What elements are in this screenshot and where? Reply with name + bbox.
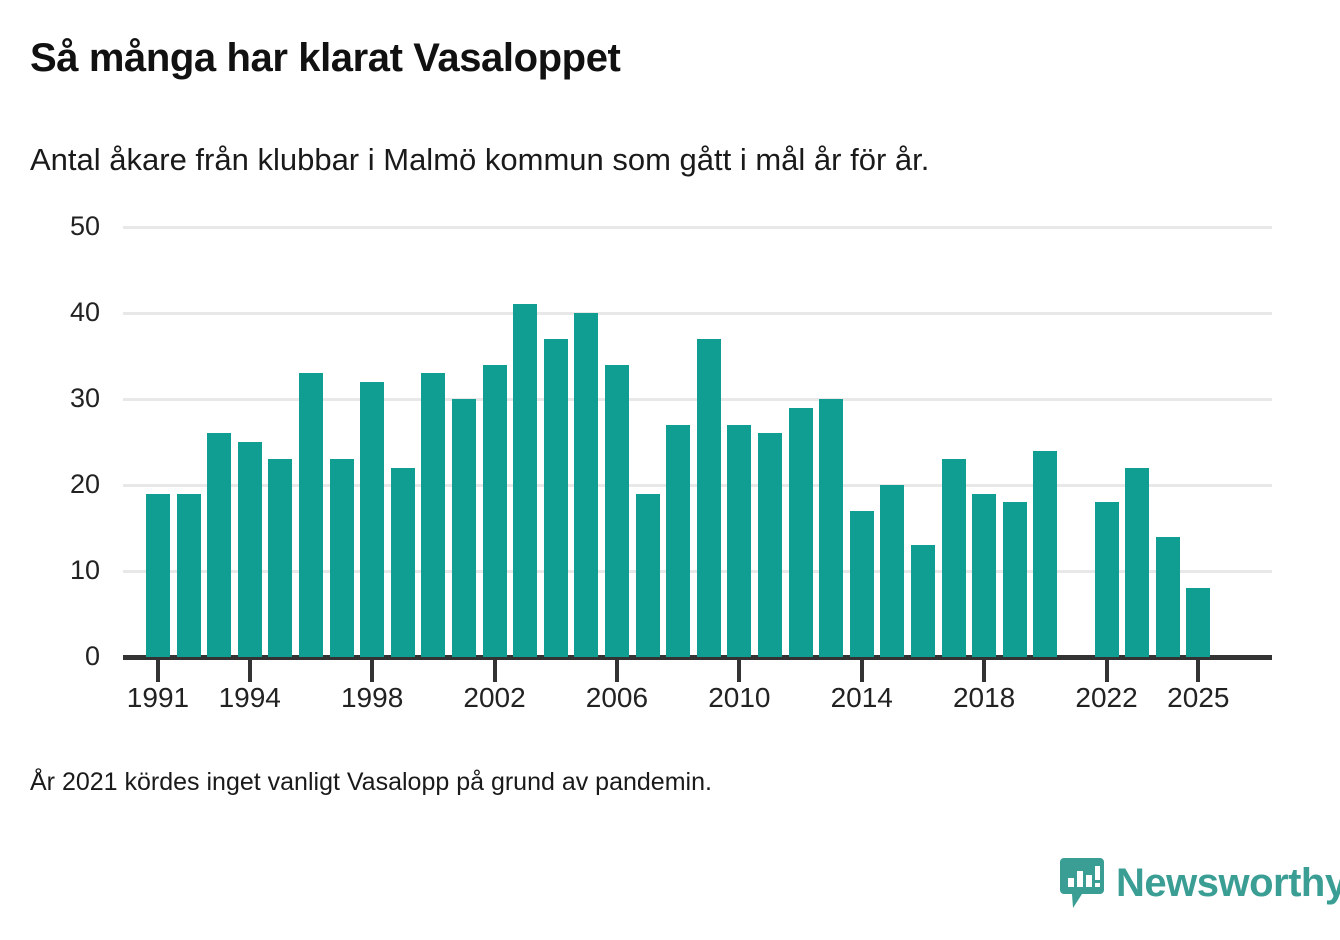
bar xyxy=(146,494,170,657)
bar xyxy=(544,339,568,657)
bar xyxy=(727,425,751,657)
bar-chart: 01020304050 1991199419982002200620102014… xyxy=(0,0,1340,760)
x-axis-tick-mark xyxy=(615,660,619,682)
bar xyxy=(666,425,690,657)
y-axis-tick-label: 20 xyxy=(30,471,100,498)
bar xyxy=(207,433,231,657)
x-axis-ticks: 1991199419982002200620102014201820222025 xyxy=(123,660,1272,684)
x-axis-tick-mark xyxy=(248,660,252,682)
bar xyxy=(1125,468,1149,657)
x-axis-tick-label: 1994 xyxy=(190,682,310,714)
bar xyxy=(1156,537,1180,657)
bar xyxy=(360,382,384,657)
y-axis-tick-label: 0 xyxy=(30,643,100,670)
y-axis-labels: 01020304050 xyxy=(30,0,100,760)
bar xyxy=(391,468,415,657)
x-axis-tick-mark xyxy=(493,660,497,682)
bar xyxy=(605,365,629,657)
bar xyxy=(1095,502,1119,657)
bar-chart-speech-bubble-icon xyxy=(1060,858,1104,908)
bar xyxy=(268,459,292,657)
x-axis-tick-mark xyxy=(982,660,986,682)
bar xyxy=(758,433,782,657)
bar xyxy=(880,485,904,657)
x-axis-tick-mark xyxy=(156,660,160,682)
bar xyxy=(513,304,537,657)
y-axis-tick-label: 50 xyxy=(30,213,100,240)
newsworthy-logo[interactable]: Newsworthy xyxy=(1060,858,1340,908)
chart-footnote: År 2021 kördes inget vanligt Vasalopp på… xyxy=(30,768,712,797)
bar xyxy=(483,365,507,657)
x-axis-tick-label: 2002 xyxy=(435,682,555,714)
bar xyxy=(636,494,660,657)
logo-wordmark: Newsworthy xyxy=(1116,863,1340,903)
x-axis-tick-label: 2018 xyxy=(924,682,1044,714)
x-axis-tick-label: 2010 xyxy=(679,682,799,714)
x-axis-tick-label: 1998 xyxy=(312,682,432,714)
bar xyxy=(911,545,935,657)
x-axis-tick-label: 2014 xyxy=(802,682,922,714)
bar xyxy=(421,373,445,657)
bar xyxy=(177,494,201,657)
x-axis-tick-mark xyxy=(370,660,374,682)
bar xyxy=(697,339,721,657)
x-axis-tick-mark xyxy=(1105,660,1109,682)
chart-page: Så många har klarat Vasaloppet Antal åka… xyxy=(0,0,1340,940)
bar xyxy=(330,459,354,657)
bar xyxy=(819,399,843,657)
x-axis-tick-label: 2025 xyxy=(1138,682,1258,714)
bar xyxy=(574,313,598,657)
bar xyxy=(452,399,476,657)
bar xyxy=(1186,588,1210,657)
y-axis-tick-label: 30 xyxy=(30,385,100,412)
x-axis-tick-mark xyxy=(1196,660,1200,682)
x-axis-tick-mark xyxy=(737,660,741,682)
bar xyxy=(942,459,966,657)
bar xyxy=(972,494,996,657)
bar xyxy=(1003,502,1027,657)
bar-series xyxy=(123,227,1272,657)
bar xyxy=(850,511,874,657)
bar xyxy=(789,408,813,657)
x-axis-tick-mark xyxy=(860,660,864,682)
y-axis-tick-label: 40 xyxy=(30,299,100,326)
bar xyxy=(1033,451,1057,657)
x-axis-tick-label: 2006 xyxy=(557,682,677,714)
bar xyxy=(299,373,323,657)
y-axis-tick-label: 10 xyxy=(30,557,100,584)
bar xyxy=(238,442,262,657)
